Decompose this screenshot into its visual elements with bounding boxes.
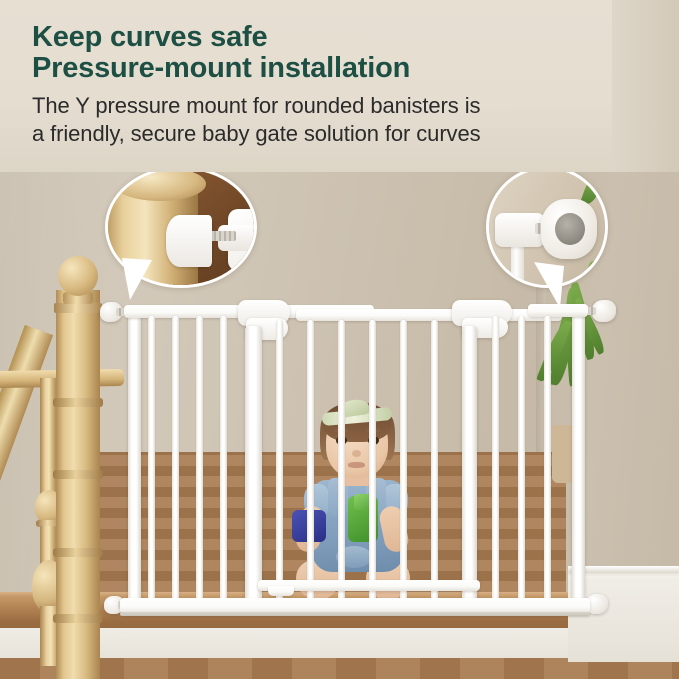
subtext-line-1: The Y pressure mount for rounded baniste… bbox=[32, 93, 480, 118]
newel-ring bbox=[53, 398, 103, 407]
toy-block-blue bbox=[292, 510, 326, 542]
callout-left-post-cap bbox=[114, 167, 206, 201]
headline-line-2: Pressure-mount installation bbox=[32, 53, 632, 84]
page-subtext: The Y pressure mount for rounded baniste… bbox=[32, 92, 632, 148]
plant-pot bbox=[552, 425, 580, 483]
baby-waist-knot bbox=[336, 546, 372, 568]
subtext-line-2: a friendly, secure baby gate solution fo… bbox=[32, 120, 632, 148]
baseboard bbox=[568, 566, 679, 662]
newel-ball-finial bbox=[58, 256, 98, 296]
baby-eyebrow bbox=[334, 429, 348, 432]
baseboard-lip bbox=[568, 573, 679, 578]
toddler bbox=[290, 398, 422, 603]
callout-left-pointer bbox=[122, 258, 162, 302]
baby-eyebrow bbox=[366, 429, 380, 432]
baseboard-top-molding bbox=[568, 566, 679, 573]
newel-ring bbox=[53, 470, 103, 479]
newel-ring bbox=[53, 614, 103, 623]
page-headline: Keep curves safe Pressure-mount installa… bbox=[32, 22, 632, 84]
baby-eye bbox=[368, 436, 379, 445]
product-infographic: Keep curves safe Pressure-mount installa… bbox=[0, 0, 679, 679]
newel-cap bbox=[54, 303, 102, 313]
callout-right-cup-recess bbox=[555, 213, 585, 245]
baby-mouth bbox=[348, 462, 365, 468]
newel-ring bbox=[53, 548, 103, 557]
toy-block-green-top bbox=[354, 494, 376, 510]
headline-line-1: Keep curves safe bbox=[32, 21, 267, 53]
callout-left-y-bracket bbox=[166, 215, 212, 267]
callout-right-pointer bbox=[530, 262, 574, 310]
baby-eye bbox=[336, 436, 347, 445]
baby-nose bbox=[352, 450, 361, 457]
